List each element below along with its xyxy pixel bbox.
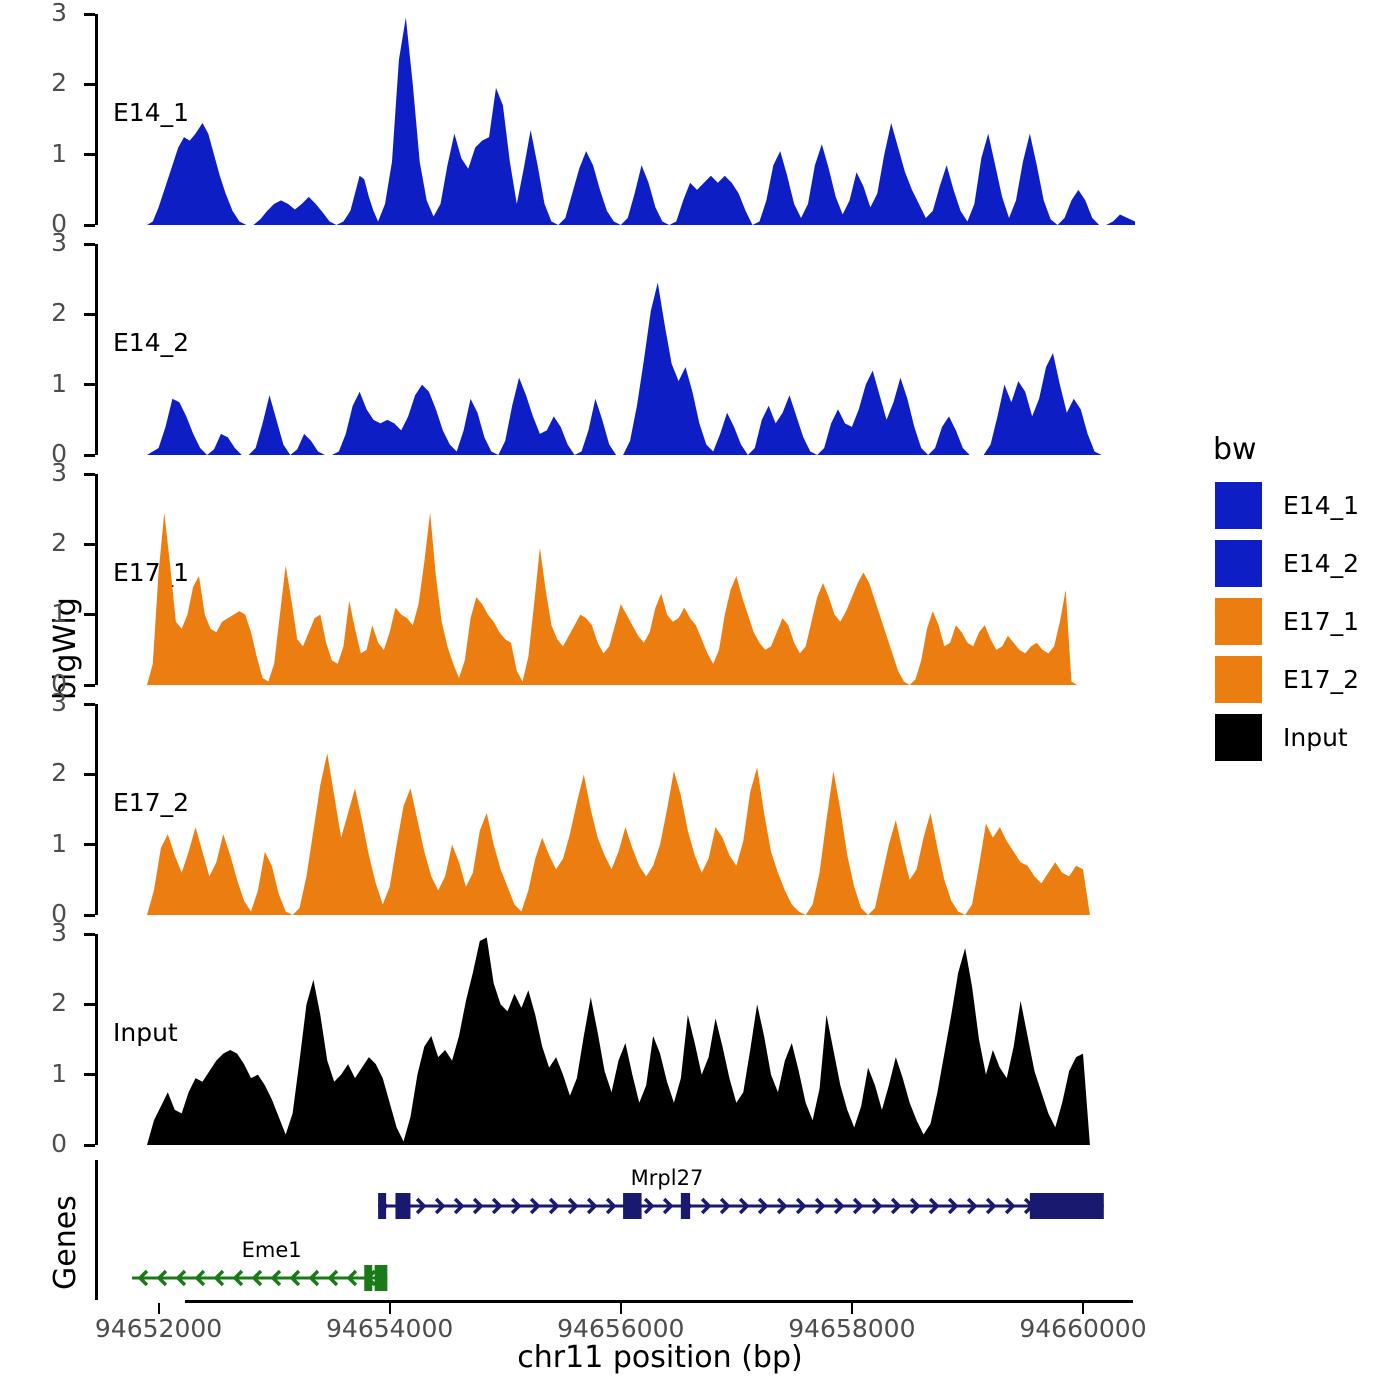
y-tick-label: 1 bbox=[5, 141, 67, 166]
y-tick-label: 2 bbox=[5, 530, 67, 555]
x-tick bbox=[158, 1303, 160, 1314]
genes-panel: Mrpl27 Eme1 bbox=[95, 1160, 1135, 1300]
y-tick bbox=[84, 224, 95, 227]
legend-item-input[interactable]: Input bbox=[1215, 714, 1348, 761]
y-tick-label: 1 bbox=[5, 831, 67, 856]
track-panel-e14_1: 0123E14_1 bbox=[95, 14, 1135, 225]
y-tick bbox=[84, 383, 95, 386]
gene-exon bbox=[395, 1193, 410, 1219]
y-tick-label: 3 bbox=[5, 460, 67, 485]
y-tick-label: 1 bbox=[5, 601, 67, 626]
legend-label: Input bbox=[1283, 723, 1348, 752]
legend-label: E14_1 bbox=[1283, 491, 1359, 520]
x-tick bbox=[1082, 1303, 1084, 1314]
y-tick bbox=[84, 153, 95, 156]
gene-label-eme1: Eme1 bbox=[202, 1238, 342, 1262]
y-tick bbox=[84, 83, 95, 86]
y-tick-label: 2 bbox=[5, 70, 67, 95]
x-tick bbox=[851, 1303, 853, 1314]
signal-area-input[interactable] bbox=[95, 934, 1135, 1145]
y-tick bbox=[84, 613, 95, 616]
y-tick bbox=[84, 773, 95, 776]
y-tick bbox=[84, 1073, 95, 1076]
legend-title: bw bbox=[1213, 432, 1257, 467]
y-tick bbox=[84, 703, 95, 706]
y-tick bbox=[84, 454, 95, 457]
y-tick bbox=[84, 473, 95, 476]
legend-label: E17_2 bbox=[1283, 665, 1359, 694]
y-tick bbox=[84, 543, 95, 546]
x-tick-label: 94652000 bbox=[59, 1314, 259, 1343]
signal-area-e14_1[interactable] bbox=[95, 14, 1135, 225]
legend-label: E14_2 bbox=[1283, 549, 1359, 578]
y-tick-label: 2 bbox=[5, 300, 67, 325]
track-panel-e14_2: 0123E14_2 bbox=[95, 244, 1135, 455]
legend-item-e17_2[interactable]: E17_2 bbox=[1215, 656, 1359, 703]
legend-label: E17_1 bbox=[1283, 607, 1359, 636]
legend-item-e17_1[interactable]: E17_1 bbox=[1215, 598, 1359, 645]
x-tick-label: 94658000 bbox=[752, 1314, 952, 1343]
gene-exon bbox=[375, 1265, 388, 1291]
y-tick bbox=[84, 13, 95, 16]
legend-swatch bbox=[1215, 656, 1262, 703]
genes-axis-title: Genes bbox=[48, 1195, 83, 1290]
x-tick-label: 94654000 bbox=[290, 1314, 490, 1343]
y-tick bbox=[84, 243, 95, 246]
signal-area-e17_2[interactable] bbox=[95, 704, 1135, 915]
y-tick-label: 3 bbox=[5, 230, 67, 255]
gene-exon bbox=[378, 1193, 386, 1219]
gene-label-mrpl27: Mrpl27 bbox=[597, 1166, 737, 1190]
x-tick-label: 94656000 bbox=[521, 1314, 721, 1343]
track-panel-input: 0123Input bbox=[95, 934, 1135, 1145]
gene-exon bbox=[1030, 1193, 1104, 1219]
x-tick-label: 94660000 bbox=[983, 1314, 1183, 1343]
y-tick-label: 3 bbox=[5, 920, 67, 945]
y-tick-label: 1 bbox=[5, 371, 67, 396]
y-tick-label: 2 bbox=[5, 990, 67, 1015]
y-tick-label: 3 bbox=[5, 690, 67, 715]
y-tick-label: 1 bbox=[5, 1061, 67, 1086]
legend-swatch bbox=[1215, 714, 1262, 761]
gene-exon bbox=[623, 1193, 641, 1219]
y-tick-label: 2 bbox=[5, 760, 67, 785]
x-tick bbox=[389, 1303, 391, 1314]
y-tick bbox=[84, 313, 95, 316]
y-tick bbox=[84, 843, 95, 846]
y-tick bbox=[84, 1003, 95, 1006]
y-tick bbox=[84, 684, 95, 687]
x-tick bbox=[620, 1303, 622, 1314]
signal-area-e17_1[interactable] bbox=[95, 474, 1135, 685]
legend-item-e14_2[interactable]: E14_2 bbox=[1215, 540, 1359, 587]
y-tick-label: 3 bbox=[5, 0, 67, 25]
y-tick-label: 0 bbox=[5, 1131, 67, 1156]
y-tick bbox=[84, 914, 95, 917]
track-panel-e17_1: 0123E17_1 bbox=[95, 474, 1135, 685]
signal-area-e14_2[interactable] bbox=[95, 244, 1135, 455]
legend-item-e14_1[interactable]: E14_1 bbox=[1215, 482, 1359, 529]
gene-exon bbox=[681, 1193, 690, 1219]
y-tick bbox=[84, 933, 95, 936]
legend-swatch bbox=[1215, 540, 1262, 587]
legend-swatch bbox=[1215, 598, 1262, 645]
x-axis-title: chr11 position (bp) bbox=[300, 1340, 1020, 1375]
track-panel-e17_2: 0123E17_2 bbox=[95, 704, 1135, 915]
legend-swatch bbox=[1215, 482, 1262, 529]
y-tick bbox=[84, 1144, 95, 1147]
x-axis-line bbox=[185, 1300, 1133, 1303]
gene-exon bbox=[364, 1265, 372, 1291]
